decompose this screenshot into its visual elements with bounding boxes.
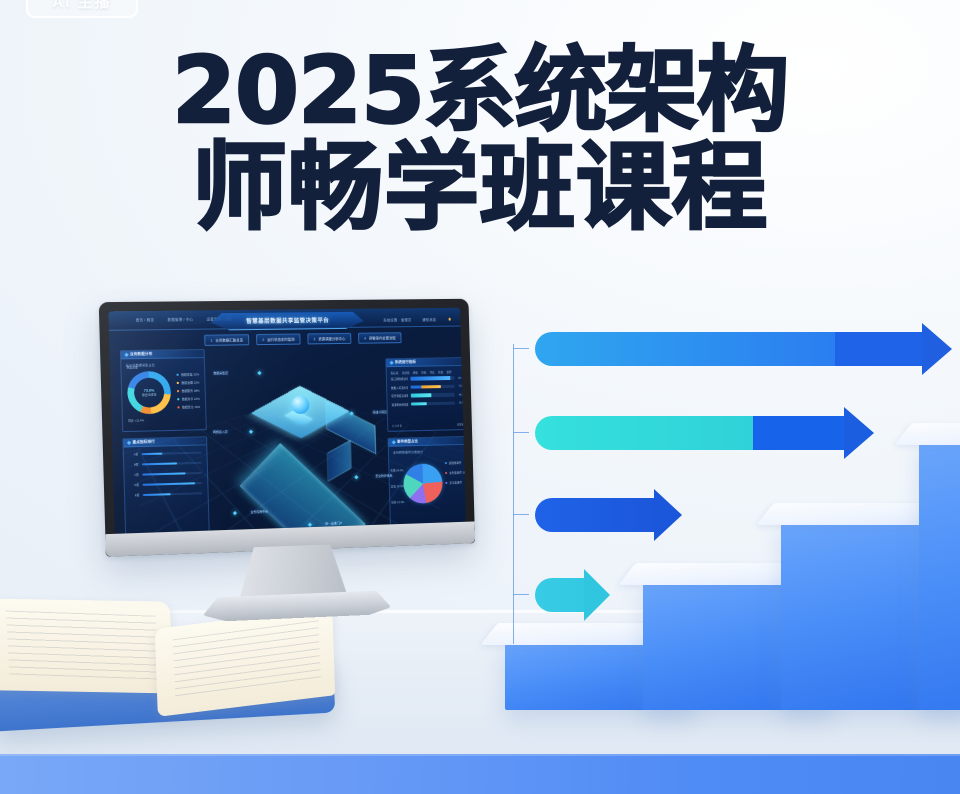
legend-swatch-icon-2: [177, 390, 180, 392]
tab-4-number: 4: [364, 336, 366, 340]
indicator-track-2: [410, 393, 454, 397]
table-row: 数据入库及时率 71.8%: [391, 384, 465, 389]
monitor-stand-base: [202, 590, 391, 622]
tab-1[interactable]: 1 业务数据汇聚总览: [204, 334, 249, 346]
col-5: 状态: [438, 370, 443, 374]
col-3: 均值: [421, 371, 426, 375]
col-2: 峰值: [413, 371, 418, 375]
donut-legend: 数据采集 32% 数据治理 22% 数据服务 08% 数据共享 22% 数据安全…: [177, 372, 201, 409]
nav-item-0[interactable]: 首页 / 概览: [136, 317, 155, 322]
step-4-top-cap: [894, 423, 960, 445]
pie-legend-label-2: 安全类事件: [449, 480, 462, 484]
donut-tag-bottom: 同比 +12.4%: [128, 418, 144, 422]
callout-text-0: 数据采集层: [213, 371, 228, 375]
indicator-name-1: 数据入库及时率: [391, 385, 408, 389]
table-more-link[interactable]: 查看更多: [457, 422, 466, 426]
donut-chart: 73.6% 综合达成率 采集总量 同比 +12.4%: [127, 371, 176, 419]
callout-node-icon-0: [258, 371, 262, 375]
callout-node-icon-2: [350, 411, 354, 415]
staircase-step-4: [919, 438, 960, 710]
donut-legend-item-2: 数据服务 08%: [177, 389, 200, 393]
arrow-3-body: [535, 498, 655, 532]
indicator-track-0: [410, 376, 454, 380]
nav-item-1[interactable]: 数据管理 / 中心: [167, 317, 193, 322]
isometric-architecture-diagram: 数据采集层 网络接入层 存储计算层: [211, 352, 390, 534]
guide-vertical-line: [513, 344, 514, 644]
guide-tick-3: [513, 514, 529, 515]
indicator-table-body: 接口调用成功率 92.4% 数据入库及时率 71.8% 任务调度完成率: [387, 376, 466, 407]
panel-title-data-distribution: 业务数据分布: [130, 352, 153, 357]
callout-line-3: [360, 476, 374, 477]
callout-line-5: [313, 523, 323, 524]
arrow-4-head-icon: [584, 569, 610, 621]
donut-center-label: 73.6% 综合达成率: [127, 371, 172, 415]
progress-arrow-1: [535, 332, 952, 366]
callout-node-icon-3: [355, 475, 359, 479]
arrow-1-neck: [835, 332, 923, 366]
callout-left-0: 数据采集层: [213, 370, 261, 375]
col-0: 指标项: [391, 371, 399, 375]
dashboard-title-plate: 智慧基层数据共享监管决策平台: [211, 312, 364, 331]
table-row: 接口调用成功率 92.4%: [391, 376, 465, 381]
watermark-badge: AI 主播: [26, 0, 138, 18]
tab-3-number: 3: [313, 337, 315, 341]
notification-dot-icon: [448, 318, 450, 320]
legend-swatch-icon-1: [177, 382, 180, 384]
page-title: 2025系统架构 师畅学班课程: [0, 44, 960, 237]
guide-tick-4: [513, 594, 529, 595]
arrow-2-body: [535, 416, 753, 450]
indicator-track-3: [411, 401, 455, 405]
callout-line-2: [355, 412, 371, 413]
monitor-bezel: 首页 / 概览 数据管理 / 中心 运营监控 / 分析 系统设置 · 管理员 通…: [99, 299, 475, 557]
tab-4[interactable]: 4 预警事件处置流程: [358, 332, 402, 344]
donut-legend-item-3: 数据共享 22%: [177, 397, 200, 402]
progress-arrow-2: [535, 416, 874, 450]
desktop-monitor: 首页 / 概览 数据管理 / 中心 运营监控 / 分析 系统设置 · 管理员 通…: [99, 299, 499, 651]
arrow-3-head-icon: [654, 489, 682, 541]
donut-center-caption: 综合达成率: [142, 393, 157, 397]
indicator-value-3: 36.5%: [457, 401, 466, 404]
indicator-value-0: 92.4%: [456, 376, 465, 379]
headline-line-2: 师畅学班课程: [0, 140, 960, 237]
tab-2-number: 2: [262, 337, 264, 341]
table-row: 任务调度完成率 48.2%: [391, 393, 465, 398]
callout-text-1: 网络接入层: [213, 430, 228, 434]
legend-label-1: 数据治理 22%: [181, 381, 199, 385]
indicator-value-2: 48.2%: [457, 393, 466, 396]
callout-node-icon-4: [233, 511, 237, 515]
tab-3-label: 资源调度分析中心: [318, 336, 345, 341]
arrow-2-head-icon: [844, 407, 874, 459]
band-top-highlight: [0, 754, 960, 756]
donut-tag-left: 采集总量: [127, 365, 138, 369]
arrow-1-body: [535, 332, 835, 366]
callout-line-1: [230, 431, 248, 432]
col-4: 环比: [430, 370, 435, 374]
indicator-name-2: 任务调度完成率: [391, 394, 408, 398]
dashboard-app: 首页 / 概览 数据管理 / 中心 运营监控 / 分析 系统设置 · 管理员 通…: [108, 308, 465, 534]
tab-1-number: 1: [210, 338, 212, 342]
nav-item-notifications[interactable]: 通知消息: [422, 317, 436, 322]
legend-swatch-icon-0: [177, 374, 180, 376]
growth-staircase-graphic: [495, 320, 960, 740]
arrow-2-neck: [753, 416, 845, 450]
indicator-fill-1: [410, 385, 441, 389]
callout-text-2: 存储计算层: [373, 410, 387, 414]
col-1: 当前值: [402, 371, 410, 375]
tab-3[interactable]: 3 资源调度分析中心: [307, 333, 351, 345]
indicator-name-3: 资源利用率指数: [391, 402, 408, 406]
legend-label-4: 数据安全 16%: [182, 405, 200, 409]
indicator-value-1: 71.8%: [456, 385, 465, 388]
callout-line-4: [238, 512, 248, 513]
tab-2-label: 运行状态实时监测: [267, 337, 294, 342]
callout-node-icon-1: [250, 429, 254, 433]
nav-item-settings[interactable]: 系统设置 · 管理员: [383, 317, 411, 322]
table-row: 资源利用率指数 36.5%: [391, 401, 465, 407]
legend-swatch-icon-3: [177, 398, 180, 400]
legend-swatch-icon-4: [177, 406, 180, 408]
poster-root: AI 主播 2025系统架构 师畅学班课程 首页 / 概览 数据管理 / 中心 …: [0, 0, 960, 794]
arrow-4-body: [535, 578, 585, 612]
arrow-1-head-icon: [922, 323, 952, 375]
progress-arrow-3: [535, 498, 682, 532]
dashboard-tab-row[interactable]: 1 业务数据汇聚总览 2 运行状态实时监测 3 资源调度分析中心 4: [204, 332, 402, 346]
progress-arrow-4: [535, 578, 610, 612]
callout-text-3: 安全防护体系: [375, 474, 392, 478]
tab-4-label: 预警事件处置流程: [369, 335, 396, 340]
panel-title-system-indicators: 系统运行指标: [395, 360, 416, 365]
monitor-screen: 首页 / 概览 数据管理 / 中心 运营监控 / 分析 系统设置 · 管理员 通…: [108, 308, 465, 534]
indicator-fill-0: [410, 376, 450, 380]
indicator-fill-3: [411, 402, 427, 406]
headline-line-1: 2025系统架构: [0, 44, 960, 138]
donut-legend-item-4: 数据安全 16%: [177, 405, 200, 410]
panel-data-distribution: 业务数据分布 近30日数据采集占比 73.6% 综合达成率 采集总量 同比 +1…: [120, 349, 207, 432]
dashboard-title: 智慧基层数据共享监管决策平台: [246, 316, 329, 325]
legend-label-2: 数据服务 08%: [182, 389, 200, 393]
callout-node-icon-5: [308, 522, 312, 526]
donut-legend-item-0: 数据采集 32%: [177, 372, 200, 376]
legend-label-0: 数据采集 32%: [181, 372, 199, 376]
indicator-name-0: 接口调用成功率: [391, 377, 408, 381]
callout-text-5: 统一运维门户: [325, 521, 342, 526]
tab-1-label: 业务数据汇聚总览: [215, 337, 243, 342]
legend-label-3: 数据共享 22%: [182, 397, 200, 401]
indicator-fill-2: [410, 393, 431, 397]
guide-tick-2: [513, 432, 529, 433]
dashboard-nav-right[interactable]: 系统设置 · 管理员 通知消息: [383, 317, 450, 323]
bottom-color-band: [0, 754, 960, 794]
col-6: 趋势: [447, 370, 452, 374]
guide-tick-1: [513, 348, 529, 349]
callout-text-4: 业务应用中台: [250, 509, 268, 514]
callout-line-0: [230, 372, 256, 373]
tab-2[interactable]: 2 运行状态实时监测: [256, 333, 301, 345]
callout-right-0: 存储计算层: [350, 410, 387, 415]
indicator-track-1: [410, 385, 454, 389]
donut-legend-item-1: 数据治理 22%: [177, 381, 200, 385]
